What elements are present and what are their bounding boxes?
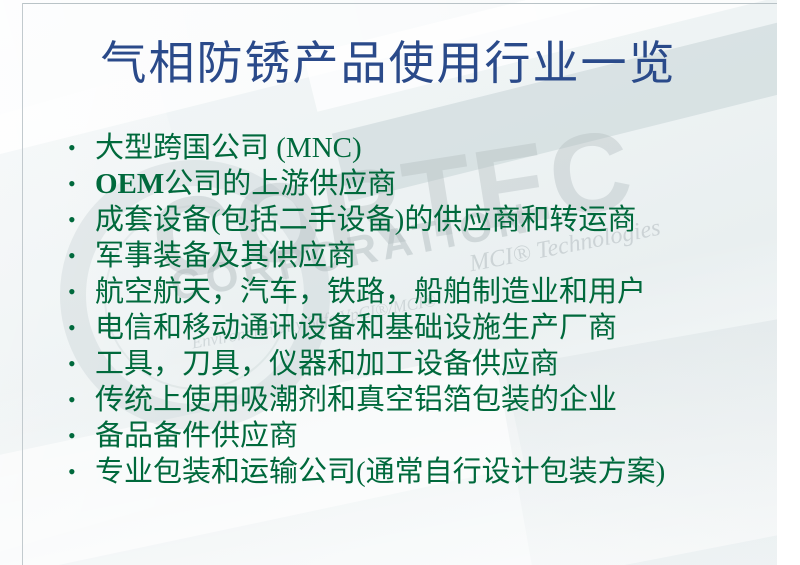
bullet-text: 电信和移动通讯设备和基础设施生产厂商 — [95, 312, 617, 344]
bullet-item: 电信和移动通讯设备和基础设施生产厂商 — [62, 310, 762, 346]
bullet-text: 航空航天，汽车，铁路，船舶制造业和用户 — [95, 276, 646, 308]
slide-frame-top-border — [22, 3, 777, 4]
bullet-item: 大型跨国公司 (MNC) — [62, 130, 762, 166]
bullet-text: 军事装备及其供应商 — [95, 240, 356, 272]
bullet-text: 备品备件供应商 — [95, 420, 298, 452]
bullet-prefix: OEM — [95, 168, 164, 200]
bullet-text: 大型跨国公司 — [95, 132, 276, 164]
bullet-item: 成套设备(包括二手设备)的供应商和转运商 — [62, 202, 762, 238]
slide-title: 气相防锈产品使用行业一览 — [0, 36, 777, 92]
slide-surface: CORTEC CORPORATION MCI® Technologies Env… — [0, 0, 777, 565]
bullet-text: 工具，刀具，仪器和加工设备供应商 — [95, 348, 559, 380]
bullet-item: OEM公司的上游供应商 — [62, 166, 762, 202]
bullet-list: 大型跨国公司 (MNC)OEM公司的上游供应商成套设备(包括二手设备)的供应商和… — [62, 130, 762, 490]
bullet-text: 成套设备(包括二手设备)的供应商和转运商 — [95, 204, 636, 236]
bullet-text: 传统上使用吸潮剂和真空铝箔包装的企业 — [95, 384, 617, 416]
presentation-slide: CORTEC CORPORATION MCI® Technologies Env… — [0, 0, 800, 565]
bullet-text: 专业包装和运输公司(通常自行设计包装方案) — [95, 456, 665, 488]
bullet-item: 军事装备及其供应商 — [62, 238, 762, 274]
bullet-item: 航空航天，汽车，铁路，船舶制造业和用户 — [62, 274, 762, 310]
bullet-suffix: (MNC) — [276, 132, 361, 164]
bullet-text: 公司的上游供应商 — [164, 168, 396, 200]
bullet-item: 专业包装和运输公司(通常自行设计包装方案) — [62, 454, 762, 490]
bullet-item: 传统上使用吸潮剂和真空铝箔包装的企业 — [62, 382, 762, 418]
bullet-item: 备品备件供应商 — [62, 418, 762, 454]
bullet-item: 工具，刀具，仪器和加工设备供应商 — [62, 346, 762, 382]
